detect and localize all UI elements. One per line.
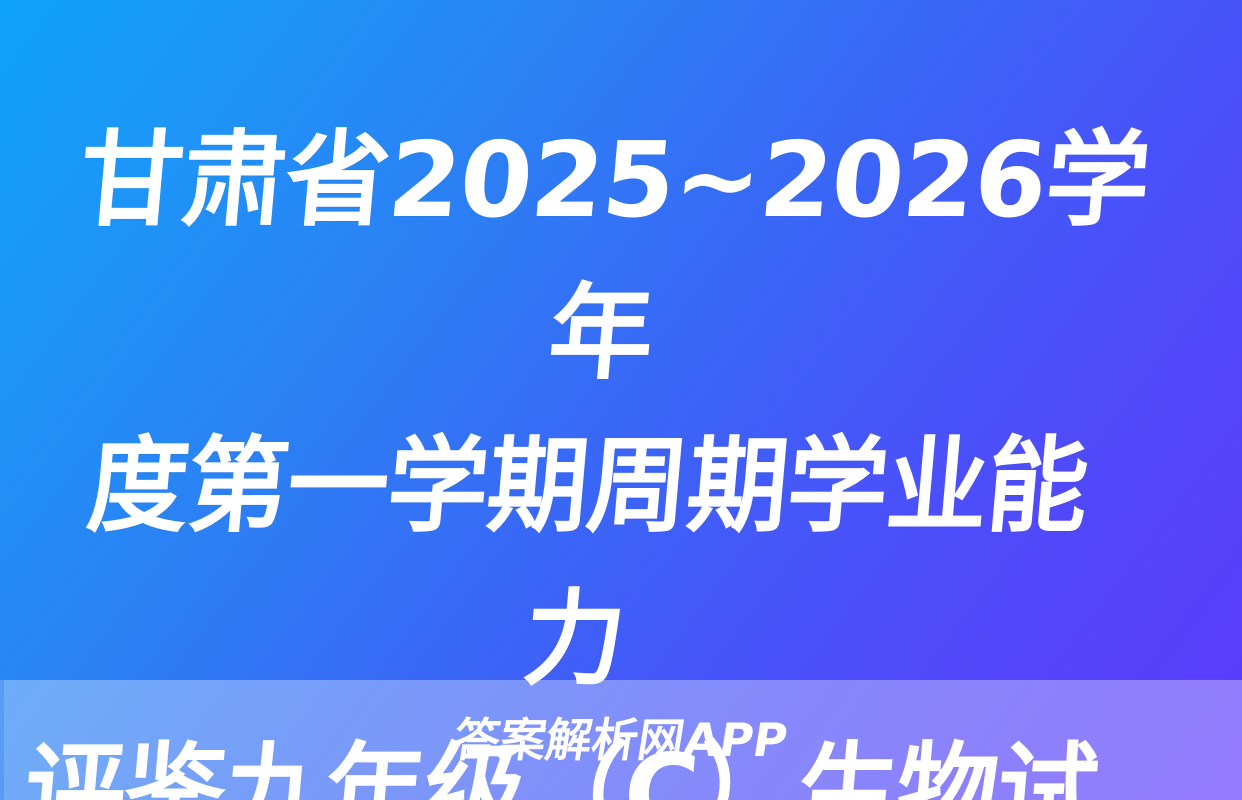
brand-name: 答案解析网APP [451, 717, 791, 763]
title-line-1: 甘肃省2025~2026学年 [35, 104, 1180, 410]
band-left-edge [0, 680, 4, 800]
footer-brand-band[interactable]: 答案解析网APP [0, 680, 1242, 800]
title-line-2: 度第一学期周期学业能力 [25, 410, 1136, 716]
exam-title-poster: 甘肃省2025~2026学年 度第一学期周期学业能力 评鉴九年级（C）生物试 题… [0, 0, 1242, 800]
